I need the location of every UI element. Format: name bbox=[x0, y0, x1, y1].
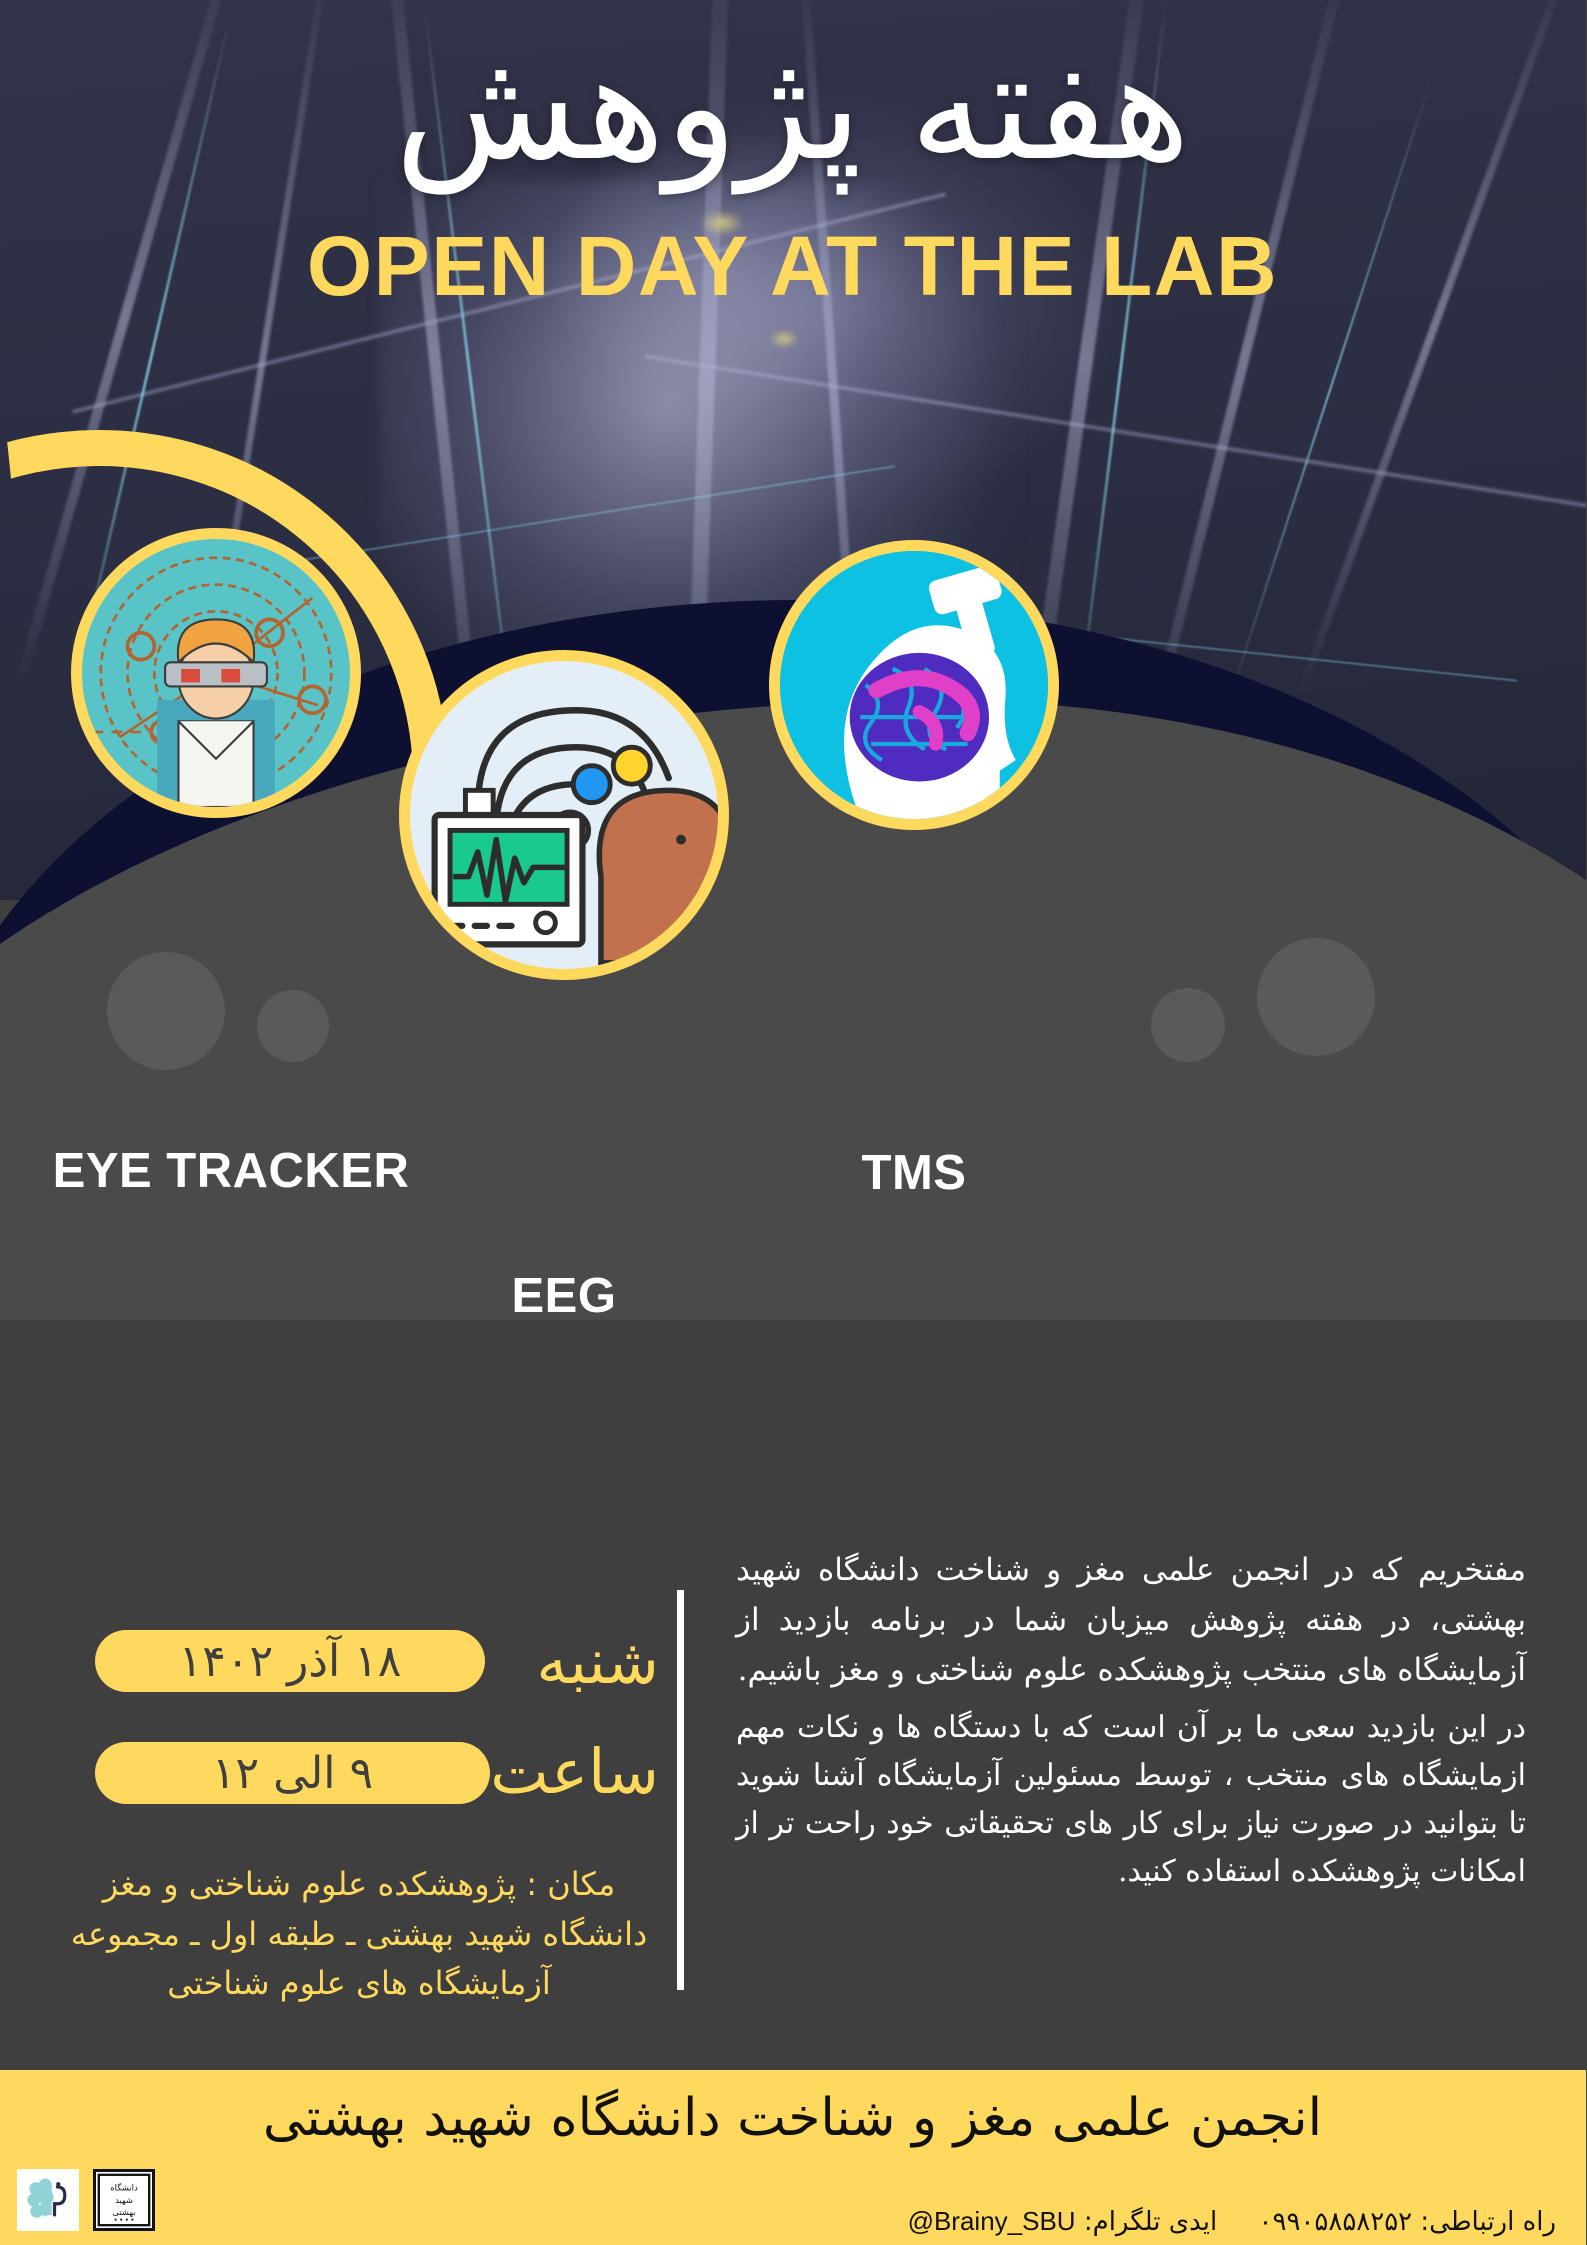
modality-label-tms: TMS bbox=[770, 1145, 1060, 1201]
vertical-divider bbox=[678, 1590, 685, 1990]
venue-text: مکان : پژوهشکده علوم شناختی و مغز دانشگا… bbox=[60, 1860, 660, 2009]
modality-circle-tms[interactable] bbox=[770, 540, 1060, 830]
time-label: ساعت bbox=[470, 1735, 660, 1808]
neuron-spark bbox=[770, 330, 800, 348]
decorative-dot bbox=[258, 990, 330, 1062]
contact-line: راه ارتباطی: ۰۹۹۰۵۸۵۸۲۵۲ ایدی تلگرام: @B… bbox=[909, 2206, 1557, 2237]
decorative-dot bbox=[1152, 988, 1226, 1062]
telegram-label: ایدی تلگرام: bbox=[1085, 2207, 1218, 2237]
contact-phone: ۰۹۹۰۵۸۵۸۲۵۲ bbox=[1260, 2207, 1414, 2237]
sbu-logo-icon: دانشگاه شهید بهشتی bbox=[97, 2172, 153, 2228]
description-paragraph-1: مفتخریم که در انجمن علمی مغز و شناخت دان… bbox=[737, 1545, 1527, 1696]
modality-label-eye-tracker: EYE TRACKER bbox=[22, 1143, 442, 1199]
modality-circle-eeg[interactable] bbox=[400, 650, 730, 980]
brain-logo-icon bbox=[21, 2172, 77, 2228]
date-pill: ۱۸ آذر ۱۴۰۲ bbox=[96, 1630, 486, 1692]
organization-name: انجمن علمی مغز و شناخت دانشگاه شهید بهشت… bbox=[0, 2088, 1587, 2148]
brainy-sbu-logo bbox=[18, 2169, 80, 2231]
decorative-dot bbox=[108, 952, 226, 1070]
poster-title-persian: هفته پژوهش bbox=[0, 26, 1587, 188]
eeg-headset-icon bbox=[411, 661, 719, 969]
description-paragraph-2: در این بازدید سعی ما بر آن است که با دست… bbox=[737, 1704, 1527, 1896]
tms-coil-brain-icon bbox=[781, 551, 1049, 819]
contact-label: راه ارتباطی: bbox=[1421, 2207, 1557, 2237]
telegram-id[interactable]: @Brainy_SBU bbox=[909, 2206, 1077, 2237]
poster-title-english: OPEN DAY AT THE LAB bbox=[0, 218, 1587, 315]
day-label: شنبه bbox=[490, 1625, 660, 1698]
svg-text:دانشگاه: دانشگاه bbox=[111, 2183, 139, 2193]
decorative-dot bbox=[1258, 938, 1376, 1056]
svg-text:بهشتی: بهشتی bbox=[113, 2207, 136, 2217]
eye-tracker-icon bbox=[83, 539, 351, 807]
sbu-university-logo: دانشگاه شهید بهشتی bbox=[94, 2169, 156, 2231]
modality-circle-eye-tracker[interactable] bbox=[72, 528, 362, 818]
footer-banner: انجمن علمی مغز و شناخت دانشگاه شهید بهشت… bbox=[0, 2070, 1587, 2245]
time-pill: ۹ الی ۱۲ bbox=[96, 1742, 491, 1804]
svg-text:شهید: شهید bbox=[116, 2195, 134, 2205]
description-block: مفتخریم که در انجمن علمی مغز و شناخت دان… bbox=[737, 1545, 1527, 1904]
modality-label-eeg: EEG bbox=[430, 1268, 700, 1324]
footer-logos: دانشگاه شهید بهشتی bbox=[18, 2169, 156, 2231]
